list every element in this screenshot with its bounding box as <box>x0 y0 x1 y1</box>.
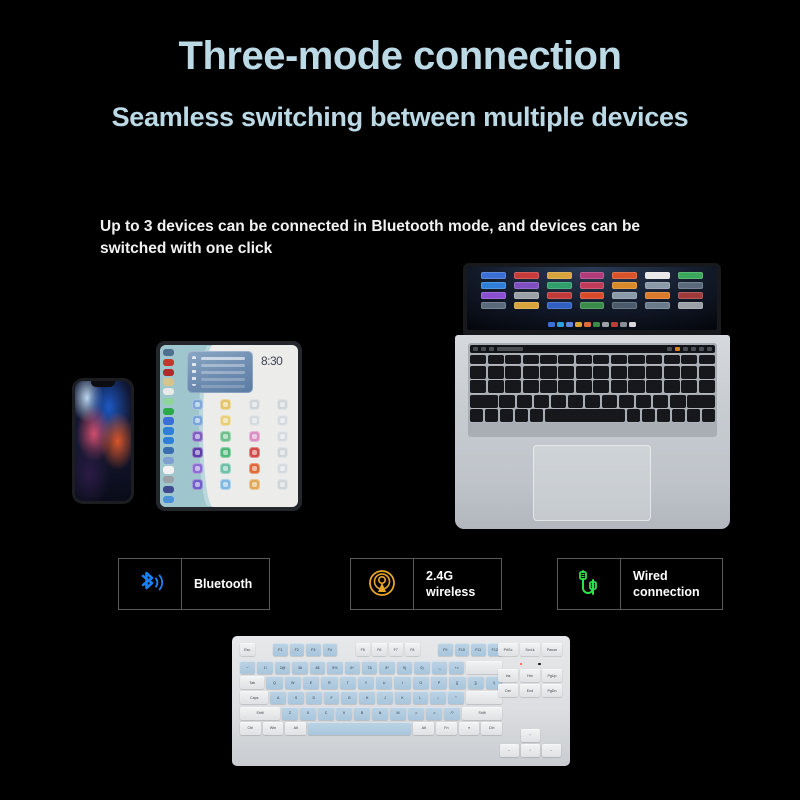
keycap[interactable]: Fn <box>436 722 457 735</box>
badge-label-24g: 2.4G wireless <box>414 558 502 610</box>
keycap[interactable] <box>257 643 272 656</box>
laptop-key[interactable] <box>646 380 662 393</box>
keycap[interactable]: G <box>341 691 357 704</box>
keycap[interactable]: 6^ <box>345 661 360 674</box>
keycap[interactable]: C <box>318 707 334 720</box>
laptop-key[interactable] <box>576 355 592 364</box>
laptop-key[interactable] <box>505 380 521 393</box>
touchbar-key <box>691 347 696 351</box>
laptop-dock-icon[interactable] <box>602 322 609 327</box>
keycap[interactable]: Alt <box>413 722 434 735</box>
keycap[interactable] <box>466 691 502 704</box>
keycap[interactable]: Ins <box>498 669 518 682</box>
keycap[interactable]: D <box>306 691 322 704</box>
tablet-app-icon[interactable] <box>192 431 203 442</box>
tablet-app-icon[interactable] <box>192 399 203 410</box>
tablet-app-icon[interactable] <box>220 415 231 426</box>
laptop-app-icon[interactable] <box>580 302 605 309</box>
dock-app-icon[interactable] <box>163 457 174 464</box>
keycap[interactable]: ScrLk <box>520 643 540 656</box>
keycap[interactable]: W <box>285 676 301 689</box>
dock-app-icon[interactable] <box>163 349 174 356</box>
laptop-key[interactable] <box>576 380 592 393</box>
laptop-app-icon[interactable] <box>612 292 637 299</box>
tablet-app-icon[interactable] <box>277 415 288 426</box>
keycap[interactable]: F11 <box>471 643 486 656</box>
keycap[interactable]: → <box>542 744 561 757</box>
keycap[interactable]: F5 <box>356 643 371 656</box>
keycap[interactable]: X <box>300 707 316 720</box>
laptop-dock <box>548 322 636 327</box>
keyboard-row: EscF1F2F3F4F5F6F7F8F9F10F11F12 <box>240 643 502 656</box>
tablet-app-icon[interactable] <box>249 463 260 474</box>
keycap[interactable]: O <box>413 676 429 689</box>
keycap[interactable]: ;: <box>430 691 446 704</box>
keycap[interactable] <box>422 643 437 656</box>
keyboard-led <box>520 663 523 666</box>
keycap[interactable]: F <box>324 691 340 704</box>
tablet-app-icon[interactable] <box>249 399 260 410</box>
keyboard-main-cluster: EscF1F2F3F4F5F6F7F8F9F10F11F12~`1!2@3#4$… <box>240 643 502 737</box>
smartphone-notch <box>91 381 115 387</box>
touchbar-key <box>707 347 712 351</box>
keycap[interactable]: Pause <box>542 643 562 656</box>
badge-24g-wireless[interactable]: 2.4G wireless <box>350 558 502 610</box>
laptop-key[interactable] <box>523 380 539 393</box>
laptop-key[interactable] <box>499 395 515 408</box>
badge-wired-connection[interactable]: Wired connection <box>557 558 723 610</box>
tablet-homescreen: 8:30 <box>177 345 298 507</box>
laptop-app-icon[interactable] <box>547 282 572 289</box>
keycap[interactable]: K <box>395 691 411 704</box>
keycap[interactable]: .> <box>426 707 442 720</box>
laptop-app-icon[interactable] <box>645 302 670 309</box>
keycap[interactable]: Hm <box>520 669 540 682</box>
laptop-touchbar <box>470 345 715 353</box>
keycap[interactable]: F3 <box>306 643 321 656</box>
keycap[interactable]: ← <box>500 744 519 757</box>
touchbar-key <box>683 347 688 351</box>
laptop-key-row <box>470 380 715 393</box>
laptop-key[interactable] <box>642 409 655 422</box>
laptop-app-icon[interactable] <box>645 282 670 289</box>
laptop-key[interactable] <box>664 380 680 393</box>
keycap[interactable] <box>339 643 354 656</box>
keycap[interactable]: T <box>340 676 356 689</box>
usb-cable-icon <box>557 558 621 610</box>
laptop-key[interactable] <box>702 409 715 422</box>
keycap[interactable]: A <box>270 691 286 704</box>
dock-app-icon[interactable] <box>163 486 174 493</box>
keycap[interactable]: F4 <box>323 643 338 656</box>
keyboard-row: ShiftZXCVBNM,<.>/?Shift <box>240 707 502 720</box>
heading-block: Three-mode connection Seamless switching… <box>0 0 800 133</box>
laptop-app-icon[interactable] <box>678 302 703 309</box>
keycap[interactable]: 2@ <box>275 661 290 674</box>
keycap[interactable]: 7& <box>362 661 377 674</box>
keyboard-row: ←↓→ <box>498 744 562 757</box>
keyboard-row: TabQWERTYUIOP[{]}\| <box>240 676 502 689</box>
laptop-key[interactable] <box>540 355 556 364</box>
keycap[interactable]: ↑ <box>521 729 540 742</box>
touchbar-key <box>675 347 680 351</box>
keycap[interactable]: V <box>336 707 352 720</box>
laptop-key[interactable] <box>664 366 680 379</box>
laptop-key[interactable] <box>593 366 609 379</box>
badge-label-wired: Wired connection <box>621 558 723 610</box>
tablet-app-icon[interactable] <box>249 431 260 442</box>
tablet-app-icon[interactable] <box>192 447 203 458</box>
laptop-key[interactable] <box>670 395 686 408</box>
keycap[interactable]: += <box>449 661 464 674</box>
keyboard-row: InsHmPgUp <box>498 669 562 682</box>
keyboard-row: ~`1!2@3#4$5%6^7&8*9(0)-_+= <box>240 661 502 674</box>
laptop-key[interactable] <box>687 409 700 422</box>
laptop-app-icon[interactable] <box>481 302 506 309</box>
keyboard-nav-cluster: PrtScScrLkPauseInsHmPgUpDelEndPgDn <box>498 643 562 699</box>
laptop-key[interactable] <box>558 380 574 393</box>
laptop-key[interactable] <box>534 395 550 408</box>
keycap[interactable]: PrtSc <box>498 643 518 656</box>
keyboard-row: ↑ <box>498 729 562 742</box>
touchbar-key <box>699 347 704 351</box>
tablet-screen: 8:30 <box>160 345 298 507</box>
laptop-app-icon[interactable] <box>481 272 506 279</box>
laptop-key[interactable] <box>628 366 644 379</box>
laptop-app-icon[interactable] <box>580 292 605 299</box>
laptop-key[interactable] <box>470 355 486 364</box>
laptop-lid <box>463 263 721 335</box>
laptop-key[interactable] <box>523 366 539 379</box>
keyboard-row: DelEndPgDn <box>498 684 562 697</box>
keycap[interactable]: L <box>413 691 429 704</box>
tablet-app-icon[interactable] <box>277 479 288 490</box>
keycap[interactable]: Del <box>498 684 518 697</box>
keycap[interactable]: F7 <box>389 643 404 656</box>
dock-app-icon[interactable] <box>163 447 174 454</box>
keycap[interactable]: 1! <box>257 661 272 674</box>
laptop-key[interactable] <box>653 395 669 408</box>
keycap[interactable]: H <box>359 691 375 704</box>
laptop-key[interactable] <box>505 355 521 364</box>
badge-bluetooth[interactable]: Bluetooth <box>118 558 270 610</box>
laptop-key[interactable] <box>523 355 539 364</box>
keyboard-row: PrtScScrLkPause <box>498 643 562 656</box>
keycap[interactable]: -_ <box>432 661 447 674</box>
dock-app-icon[interactable] <box>163 408 174 415</box>
keycap[interactable]: 9( <box>397 661 412 674</box>
laptop-key[interactable] <box>505 366 521 379</box>
tablet-clock: 8:30 <box>261 351 282 367</box>
laptop-dock-icon[interactable] <box>593 322 600 327</box>
keycap[interactable]: M <box>390 707 406 720</box>
keycap[interactable] <box>466 661 501 674</box>
tablet-app-icon[interactable] <box>249 447 260 458</box>
tablet-app-icon[interactable] <box>277 463 288 474</box>
keycap[interactable]: F8 <box>405 643 420 656</box>
laptop-key[interactable] <box>551 395 567 408</box>
laptop-key[interactable] <box>488 366 504 379</box>
keycap[interactable]: ~` <box>240 661 255 674</box>
keycap[interactable]: ,< <box>408 707 424 720</box>
touchbar-key <box>473 347 478 351</box>
keycap[interactable]: I <box>394 676 410 689</box>
tablet-app-icon[interactable] <box>277 447 288 458</box>
laptop-key[interactable] <box>628 380 644 393</box>
laptop-key[interactable] <box>602 395 618 408</box>
keycap[interactable]: /? <box>444 707 460 720</box>
laptop-key[interactable] <box>672 409 685 422</box>
tablet-app-icon[interactable] <box>192 479 203 490</box>
laptop-dock-icon[interactable] <box>611 322 618 327</box>
body-copy: Up to 3 devices can be connected in Blue… <box>100 216 700 261</box>
laptop-key[interactable] <box>636 395 652 408</box>
tablet-app-icon[interactable] <box>220 431 231 442</box>
laptop <box>455 263 730 529</box>
touchbar-key <box>489 347 494 351</box>
dock-app-icon[interactable] <box>163 437 174 444</box>
dock-app-icon[interactable] <box>163 476 174 483</box>
laptop-key[interactable] <box>699 380 715 393</box>
tablet-app-grid <box>187 399 293 490</box>
dock-app-icon[interactable] <box>163 369 174 376</box>
laptop-keyboard <box>468 343 717 437</box>
laptop-key[interactable] <box>540 366 556 379</box>
badge-label-bluetooth: Bluetooth <box>182 558 270 610</box>
laptop-app-icon[interactable] <box>580 282 605 289</box>
laptop-app-icon[interactable] <box>514 302 539 309</box>
laptop-dock-icon[interactable] <box>584 322 591 327</box>
laptop-key[interactable] <box>470 380 486 393</box>
keyboard-led <box>538 663 541 666</box>
laptop-key[interactable] <box>470 395 498 408</box>
laptop-app-icon[interactable] <box>612 282 637 289</box>
laptop-dock-icon[interactable] <box>566 322 573 327</box>
laptop-key[interactable] <box>699 355 715 364</box>
keycap[interactable]: Shift <box>240 707 280 720</box>
laptop-key[interactable] <box>681 380 697 393</box>
tablet-app-icon[interactable] <box>220 479 231 490</box>
laptop-key[interactable] <box>558 366 574 379</box>
tablet-app-icon[interactable] <box>249 479 260 490</box>
touchbar-key <box>481 347 486 351</box>
keycap[interactable] <box>308 722 411 735</box>
laptop-app-icon[interactable] <box>612 302 637 309</box>
keycap[interactable]: Y <box>358 676 374 689</box>
keycap[interactable]: E <box>303 676 319 689</box>
laptop-app-icon[interactable] <box>547 272 572 279</box>
laptop-key[interactable] <box>515 409 528 422</box>
tablet-app-icon[interactable] <box>249 415 260 426</box>
laptop-app-icon[interactable] <box>580 272 605 279</box>
laptop-key[interactable] <box>470 366 486 379</box>
keycap[interactable]: F10 <box>455 643 470 656</box>
mechanical-keyboard: EscF1F2F3F4F5F6F7F8F9F10F11F12~`1!2@3#4$… <box>232 636 570 766</box>
tablet-app-icon[interactable] <box>192 463 203 474</box>
laptop-key[interactable] <box>568 395 584 408</box>
dock-app-icon[interactable] <box>163 417 174 424</box>
laptop-key[interactable] <box>681 366 697 379</box>
dock-app-icon[interactable] <box>163 378 174 385</box>
laptop-key[interactable] <box>517 395 533 408</box>
tablet-app-icon[interactable] <box>192 415 203 426</box>
tablet-widget-row: 8:30 <box>187 351 293 393</box>
laptop-app-icon[interactable] <box>678 282 703 289</box>
laptop-app-icon[interactable] <box>481 292 506 299</box>
keycap[interactable]: End <box>520 684 540 697</box>
keyboard-indicator-leds <box>498 661 562 667</box>
keycap[interactable]: J <box>377 691 393 704</box>
laptop-key[interactable] <box>593 355 609 364</box>
keycap[interactable]: F9 <box>438 643 453 656</box>
dock-app-icon[interactable] <box>163 388 174 395</box>
touchbar-key <box>497 347 523 351</box>
keyboard-arrow-cluster: ↑←↓→ <box>498 729 562 759</box>
laptop-app-icon[interactable] <box>645 272 670 279</box>
bluetooth-icon <box>118 558 182 610</box>
laptop-key[interactable] <box>699 366 715 379</box>
tablet-app-icon[interactable] <box>220 447 231 458</box>
keycap[interactable]: Win <box>263 722 284 735</box>
keycap[interactable]: 0) <box>414 661 429 674</box>
laptop-app-icon[interactable] <box>481 282 506 289</box>
laptop-app-icon[interactable] <box>678 292 703 299</box>
keycap[interactable]: P <box>431 676 447 689</box>
keycap[interactable]: Ctrl <box>240 722 261 735</box>
touchbar-spacer <box>526 347 664 351</box>
smartphone <box>72 378 134 504</box>
keycap[interactable]: 4$ <box>310 661 325 674</box>
keycap[interactable]: ↓ <box>521 744 540 757</box>
keycap[interactable]: N <box>372 707 388 720</box>
laptop-app-icon[interactable] <box>645 292 670 299</box>
dock-app-icon[interactable] <box>163 466 174 473</box>
tablet-app-icon[interactable] <box>220 463 231 474</box>
keycap[interactable]: ≡ <box>459 722 480 735</box>
laptop-key[interactable] <box>627 409 640 422</box>
laptop-screen <box>467 267 717 330</box>
keycap[interactable]: S <box>288 691 304 704</box>
laptop-key[interactable] <box>619 395 635 408</box>
laptop-key-row <box>470 409 715 422</box>
keycap[interactable]: PgUp <box>542 669 562 682</box>
tablet-app-icon[interactable] <box>277 431 288 442</box>
laptop-key[interactable] <box>646 355 662 364</box>
keycap[interactable]: Z <box>282 707 298 720</box>
keycap[interactable]: F2 <box>290 643 305 656</box>
keycap[interactable]: 5% <box>327 661 342 674</box>
keycap[interactable]: R <box>321 676 337 689</box>
laptop-app-grid <box>481 272 703 309</box>
tablet-app-icon[interactable] <box>277 399 288 410</box>
page-title: Three-mode connection <box>0 0 800 78</box>
laptop-key[interactable] <box>628 355 644 364</box>
laptop-key[interactable] <box>681 355 697 364</box>
laptop-key[interactable] <box>576 366 592 379</box>
laptop-trackpad <box>533 445 651 521</box>
keycap[interactable]: Tab <box>240 676 264 689</box>
keycap[interactable]: ]} <box>468 676 484 689</box>
keycap[interactable]: PgDn <box>542 684 562 697</box>
laptop-key[interactable] <box>488 380 504 393</box>
promo-page: Three-mode connection Seamless switching… <box>0 0 800 800</box>
keycap[interactable]: U <box>376 676 392 689</box>
laptop-key-row <box>470 355 715 364</box>
laptop-key[interactable] <box>500 409 513 422</box>
tablet-widget <box>187 351 253 393</box>
laptop-key-row <box>470 395 715 408</box>
laptop-key[interactable] <box>485 409 498 422</box>
laptop-key[interactable] <box>611 355 627 364</box>
dock-app-icon[interactable] <box>163 359 174 366</box>
laptop-key-row <box>470 366 715 379</box>
laptop-key[interactable] <box>611 366 627 379</box>
connection-mode-badges: Bluetooth 2.4G wireless <box>118 558 688 610</box>
laptop-app-icon[interactable] <box>547 302 572 309</box>
keycap[interactable]: 3# <box>292 661 307 674</box>
laptop-app-icon[interactable] <box>514 272 539 279</box>
laptop-key[interactable] <box>585 395 601 408</box>
device-stage: 8:30 <box>0 255 800 545</box>
keycap[interactable]: Esc <box>240 643 255 656</box>
keycap[interactable]: Caps <box>240 691 268 704</box>
keycap[interactable]: Alt <box>285 722 306 735</box>
keycap[interactable]: Shift <box>462 707 502 720</box>
keycap[interactable]: Q <box>266 676 282 689</box>
laptop-app-icon[interactable] <box>612 272 637 279</box>
dock-app-icon[interactable] <box>163 427 174 434</box>
laptop-key[interactable] <box>593 380 609 393</box>
keyboard-row: CapsASDFGHJKL;:'" <box>240 691 502 704</box>
laptop-dock-icon[interactable] <box>629 322 636 327</box>
laptop-key[interactable] <box>470 409 483 422</box>
laptop-app-icon[interactable] <box>514 292 539 299</box>
laptop-app-icon[interactable] <box>678 272 703 279</box>
laptop-key-rows <box>470 355 715 422</box>
keycap[interactable]: F6 <box>372 643 387 656</box>
laptop-dock-icon[interactable] <box>620 322 627 327</box>
smartphone-screen <box>75 381 131 501</box>
keycap[interactable]: B <box>354 707 370 720</box>
tablet-dock <box>160 345 177 507</box>
laptop-key[interactable] <box>558 355 574 364</box>
keycap[interactable]: '" <box>448 691 464 704</box>
laptop-app-icon[interactable] <box>547 292 572 299</box>
keycap[interactable]: [{ <box>449 676 465 689</box>
dock-app-icon[interactable] <box>163 496 174 503</box>
laptop-key[interactable] <box>657 409 670 422</box>
laptop-key[interactable] <box>540 380 556 393</box>
laptop-dock-icon[interactable] <box>557 322 564 327</box>
touchbar-key <box>667 347 672 351</box>
keycap[interactable]: F1 <box>273 643 288 656</box>
tablet-app-icon[interactable] <box>220 399 231 410</box>
laptop-key[interactable] <box>488 355 504 364</box>
laptop-key[interactable] <box>530 409 543 422</box>
laptop-key[interactable] <box>664 355 680 364</box>
laptop-key[interactable] <box>687 395 715 408</box>
dock-app-icon[interactable] <box>163 398 174 405</box>
laptop-key[interactable] <box>545 409 626 422</box>
laptop-dock-icon[interactable] <box>548 322 555 327</box>
laptop-app-icon[interactable] <box>514 282 539 289</box>
laptop-base <box>455 335 730 529</box>
keycap[interactable]: 8* <box>379 661 394 674</box>
laptop-key[interactable] <box>646 366 662 379</box>
laptop-key[interactable] <box>611 380 627 393</box>
laptop-dock-icon[interactable] <box>575 322 582 327</box>
tablet: 8:30 <box>156 341 302 511</box>
